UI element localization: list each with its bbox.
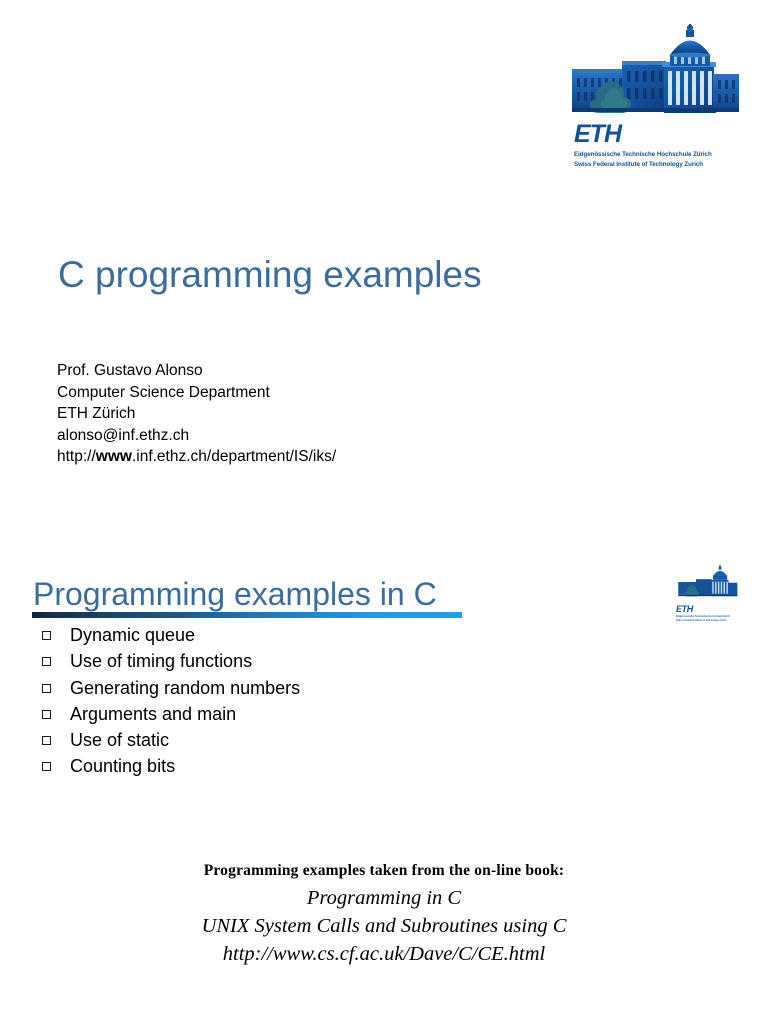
author-homepage-url: http://www.inf.ethz.ch/department/IS/iks… <box>57 446 336 468</box>
eth-wordmark-letters-small: ETH <box>676 605 740 614</box>
list-item-label: Use of timing functions <box>70 651 252 672</box>
source-attribution: Programming examples taken from the on-l… <box>0 858 768 968</box>
eth-wordmark-letters: ETH <box>574 122 746 147</box>
author-name: Prof. Gustavo Alonso <box>57 360 336 382</box>
list-item: Use of static <box>42 730 300 756</box>
slide-title: ETH Eidgenössische Technische Hochschule… <box>0 0 768 512</box>
url-suffix: .inf.ethz.ch/department/IS/iks/ <box>132 448 336 465</box>
square-bullet-icon <box>42 684 51 693</box>
list-item: Arguments and main <box>42 704 300 730</box>
examples-list: Dynamic queue Use of timing functions Ge… <box>42 625 300 783</box>
list-item-label: Dynamic queue <box>70 625 195 646</box>
list-item: Dynamic queue <box>42 625 300 651</box>
page-title: C programming examples <box>58 254 482 296</box>
square-bullet-icon <box>42 736 51 745</box>
book-subtitle: UNIX System Calls and Subroutines using … <box>0 912 768 940</box>
eth-subtitle-english: Swiss Federal Institute of Technology Zu… <box>574 160 746 170</box>
section-heading: Programming examples in C <box>33 576 437 613</box>
square-bullet-icon <box>42 710 51 719</box>
author-email: alonso@inf.ethz.ch <box>57 425 336 447</box>
eth-logo-small: ETH Eidgenössische Technische Hochschule… <box>676 565 740 621</box>
square-bullet-icon <box>42 631 51 640</box>
eth-logo: ETH Eidgenössische Technische Hochschule… <box>566 24 746 172</box>
book-url: http://www.cs.cf.ac.uk/Dave/C/CE.html <box>0 940 768 968</box>
attribution-intro: Programming examples taken from the on-l… <box>0 858 768 884</box>
list-item: Counting bits <box>42 756 300 782</box>
square-bullet-icon <box>42 657 51 666</box>
list-item: Use of timing functions <box>42 651 300 677</box>
eth-wordmark: ETH Eidgenössische Technische Hochschule… <box>574 122 746 169</box>
author-info-block: Prof. Gustavo Alonso Computer Science De… <box>57 360 336 468</box>
list-item-label: Generating random numbers <box>70 678 300 699</box>
eth-main-building-icon-small <box>676 565 740 599</box>
book-title: Programming in C <box>0 884 768 912</box>
list-item: Generating random numbers <box>42 678 300 704</box>
heading-underline-bar <box>32 612 462 618</box>
eth-subtitle-english-small: Swiss Federal Institute of Technology Zu… <box>676 619 740 623</box>
square-bullet-icon <box>42 762 51 771</box>
list-item-label: Arguments and main <box>70 704 236 725</box>
author-department: Computer Science Department <box>57 382 336 404</box>
list-item-label: Use of static <box>70 730 169 751</box>
eth-main-building-icon <box>566 24 746 120</box>
list-item-label: Counting bits <box>70 756 175 777</box>
url-prefix: http:// <box>57 448 96 465</box>
eth-subtitle-german: Eidgenössische Technische Hochschule Zür… <box>574 150 746 160</box>
slide-page: ETH Eidgenössische Technische Hochschule… <box>0 0 768 1024</box>
url-www: www <box>96 448 132 465</box>
author-institution: ETH Zürich <box>57 403 336 425</box>
